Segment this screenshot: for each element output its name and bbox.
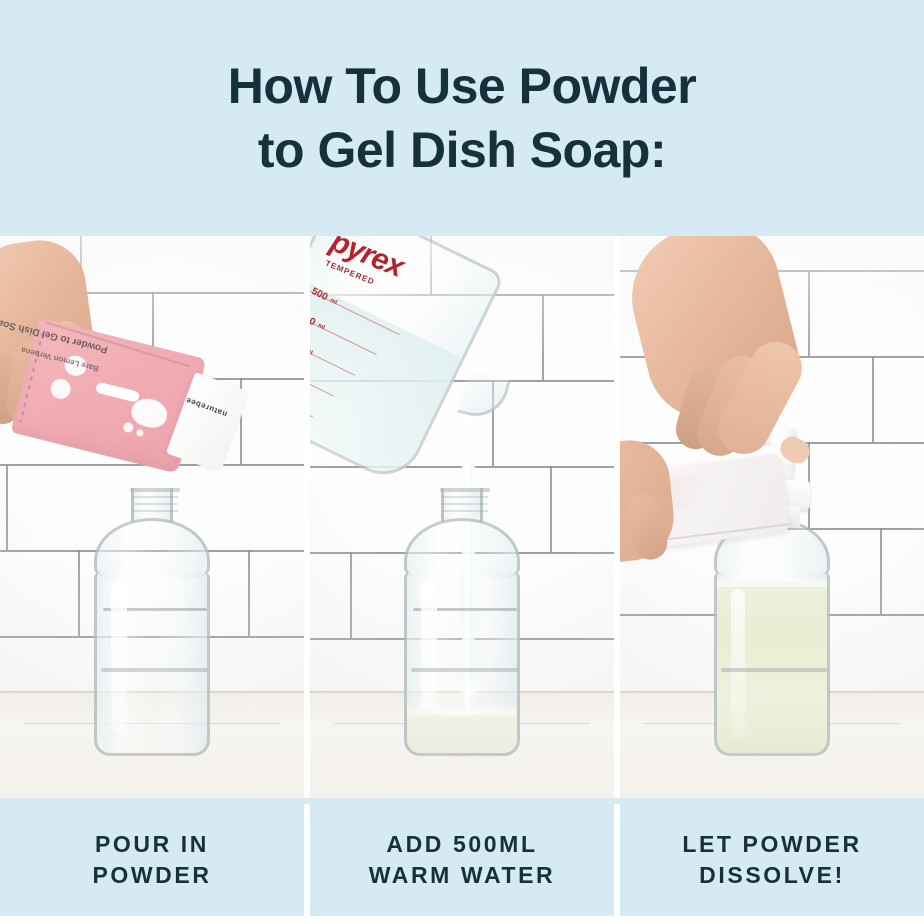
step-3-caption-line-2: DISSOLVE! [699,863,845,888]
step-1-caption: POUR IN POWDER [0,804,304,916]
bottle-neck [441,488,483,522]
powder-fill [407,709,517,753]
step-2-caption-line-1: ADD 500ML [386,832,537,857]
page-title-line-2: to Gel Dish Soap: [258,125,666,175]
glass-bottle-with-powder [399,488,525,756]
step-1-caption-line-2: POWDER [92,863,211,888]
glass-highlight [111,582,127,732]
bottle-shoulder [404,518,520,578]
bottle-body [714,572,830,756]
bottle-neck [131,488,173,522]
infographic-root: How To Use Powder to Gel Dish Soap: [0,0,924,924]
bottle-body [404,572,520,756]
step-2-caption: ADD 500ML WARM WATER [310,804,614,916]
step-1-caption-line-1: POUR IN [95,832,209,857]
step-1-photo: Powder to Gel Dish Soap Bare Lemon Verbe… [0,236,304,798]
page-title-line-1: How To Use Powder [228,61,696,111]
jug-water [310,277,462,483]
step-2-caption-line-2: WARM WATER [369,863,556,888]
caption-strip: POUR IN POWDER ADD 500ML WARM WATER LET … [0,804,924,924]
glass-bottle-empty [89,488,215,756]
header-banner: How To Use Powder to Gel Dish Soap: [0,0,924,236]
hand-holding-pouch [620,432,720,582]
step-3-caption-line-1: LET POWDER [682,832,861,857]
step-2-photo: pyrex TEMPERED 500 ml 400 ml [310,236,614,798]
fingernail [776,432,814,467]
bottle-body [94,572,210,756]
photo-strip: Powder to Gel Dish Soap Bare Lemon Verbe… [0,236,924,798]
gel-soap-fill [717,581,827,753]
step-3-caption: LET POWDER DISSOLVE! [620,804,924,916]
step-3-photo [620,236,924,798]
bottle-shoulder [94,518,210,578]
